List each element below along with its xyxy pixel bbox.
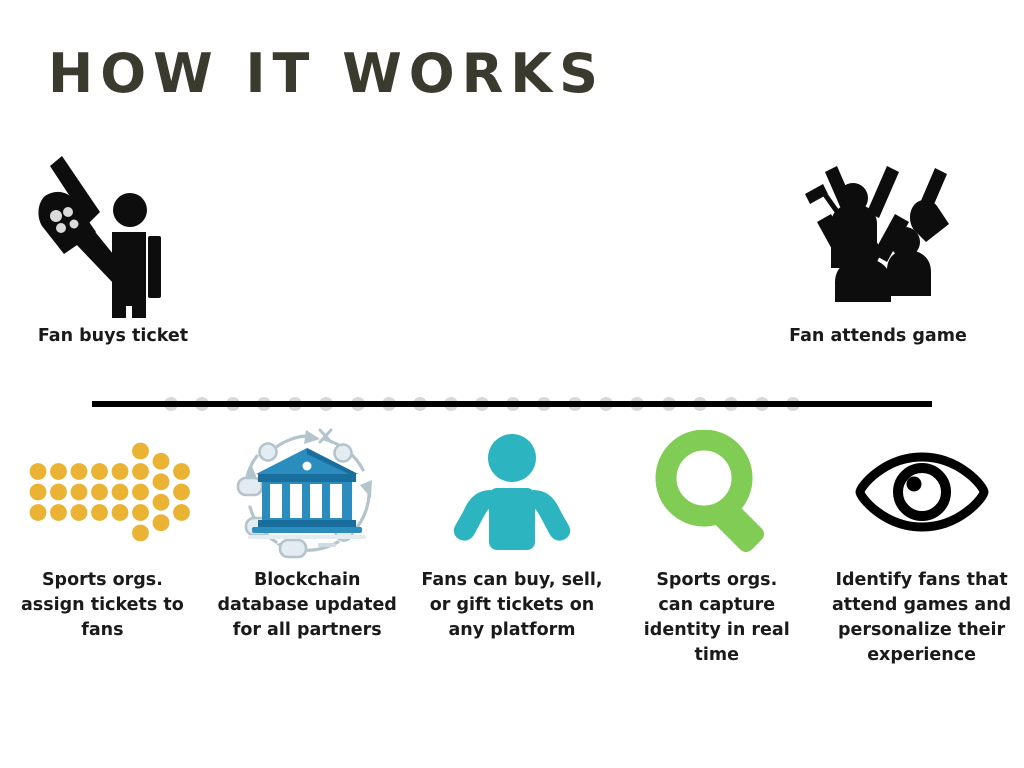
step-caption: Sports orgs. assign tickets to fans xyxy=(11,568,193,643)
arrow-dot xyxy=(30,484,47,501)
arrow-dot xyxy=(132,525,149,542)
arrow-dot xyxy=(153,473,170,490)
arrow-dot xyxy=(173,484,190,501)
flow-stage-label: Fan buys ticket xyxy=(38,326,188,346)
flow-stage-fan-attends-game: Fan attends game xyxy=(795,150,961,350)
step-caption: Fans can buy, sell, or gift tickets on a… xyxy=(421,568,603,643)
arrow-dot xyxy=(30,504,47,521)
arrow-dot xyxy=(173,504,190,521)
dotted-arrow-icon xyxy=(0,432,205,552)
steps-row: Sports orgs. assign tickets to fans xyxy=(0,432,1024,732)
step-capture-identity: Sports orgs. can capture identity in rea… xyxy=(614,432,819,667)
arrow-dot xyxy=(71,463,88,480)
step-blockchain-database: Blockchain database updated for all part… xyxy=(205,432,410,643)
arrow-dot xyxy=(132,484,149,501)
arrow-dot xyxy=(153,514,170,531)
magnifying-glass-icon xyxy=(614,432,819,552)
step-caption: Sports orgs. can capture identity in rea… xyxy=(642,568,792,667)
section-divider xyxy=(92,401,932,407)
arrow-dot xyxy=(112,504,129,521)
arrow-dot xyxy=(173,463,190,480)
step-caption: Identify fans that attend games and pers… xyxy=(831,568,1013,667)
cheering-crowd-icon xyxy=(795,150,961,325)
arrow-dot xyxy=(50,484,67,501)
infographic-canvas: HOW IT WORKS xyxy=(0,0,1024,768)
arrow-dot xyxy=(132,504,149,521)
step-caption: Blockchain database updated for all part… xyxy=(216,568,398,643)
arrow-dot xyxy=(132,443,149,460)
step-identify-fans: Identify fans that attend games and pers… xyxy=(819,432,1024,667)
arrow-dot xyxy=(91,463,108,480)
blockchain-bank-network-icon xyxy=(205,432,410,552)
arrow-dot xyxy=(71,504,88,521)
arrow-dot xyxy=(50,504,67,521)
arrow-dot xyxy=(132,463,149,480)
step-fans-buy-sell-gift: Fans can buy, sell, or gift tickets on a… xyxy=(410,432,615,643)
arrow-dot xyxy=(91,484,108,501)
arrow-dot xyxy=(91,504,108,521)
step-sports-orgs-assign-tickets: Sports orgs. assign tickets to fans xyxy=(0,432,205,643)
eye-icon xyxy=(819,432,1024,552)
person-icon xyxy=(410,432,615,552)
arrow-dot xyxy=(112,463,129,480)
flow-stage-fan-buys-ticket: Fan buys ticket xyxy=(30,150,196,350)
arrow-dot xyxy=(30,463,47,480)
fan-with-foam-finger-icon xyxy=(30,150,196,325)
flow-stage-label: Fan attends game xyxy=(789,326,967,346)
flow-row: Fan buys ticket xyxy=(0,150,1024,360)
arrow-dot xyxy=(50,463,67,480)
page-title: HOW IT WORKS xyxy=(48,46,605,103)
arrow-dot xyxy=(112,484,129,501)
arrow-dot xyxy=(71,484,88,501)
arrow-dot xyxy=(153,453,170,470)
arrow-dot xyxy=(153,494,170,511)
